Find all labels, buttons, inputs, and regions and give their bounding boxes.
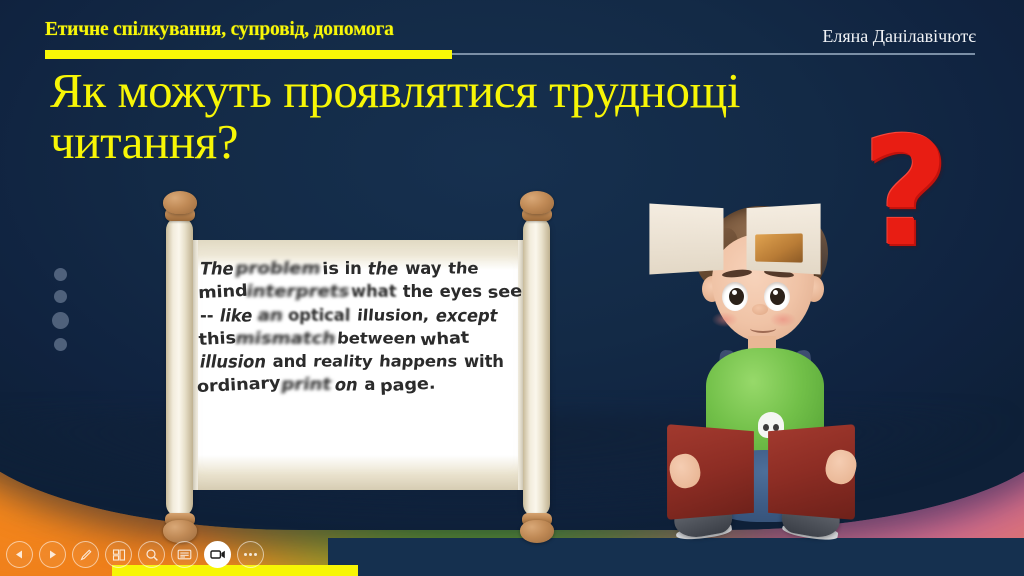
zoom-button[interactable] <box>138 541 165 568</box>
previous-slide-button[interactable] <box>6 541 33 568</box>
presentation-toolbar[interactable] <box>6 541 264 568</box>
triangle-left-icon <box>14 549 25 560</box>
scroll-rod-right <box>523 217 550 517</box>
caption-box-icon <box>177 548 192 561</box>
scroll-text-block: The problem is in the way the mind inter… <box>200 257 530 397</box>
decor-dot <box>54 338 67 351</box>
header-divider-accent <box>45 50 452 59</box>
boy-mouth <box>750 324 776 333</box>
ellipsis-icon <box>243 552 258 557</box>
page-title: Як можуть проявлятися труднощі читання? <box>50 66 770 168</box>
scroll-illustration: The problem is in the way the mind inter… <box>160 205 560 530</box>
boy-cheek-left <box>712 312 738 327</box>
scroll-finial <box>163 520 197 543</box>
pen-icon <box>79 548 93 562</box>
more-options-button[interactable] <box>237 541 264 568</box>
boy-nose <box>752 304 768 315</box>
slide-author: Еляна Данілавічютє <box>822 26 976 47</box>
scroll-finial <box>520 191 554 214</box>
boy-pupil-left <box>729 288 744 305</box>
triangle-right-icon <box>47 549 58 560</box>
layout-grid-icon <box>112 548 126 562</box>
slide-kicker: Етичне спілкування, супровід, допомога <box>45 19 394 41</box>
camera-button[interactable] <box>204 541 231 568</box>
captions-button[interactable] <box>171 541 198 568</box>
boy-pupil-right <box>770 288 785 305</box>
book-page-illustration <box>755 233 803 262</box>
book-page-left <box>649 204 723 275</box>
pen-tool-button[interactable] <box>72 541 99 568</box>
layout-button[interactable] <box>105 541 132 568</box>
decor-dot <box>52 312 69 329</box>
video-camera-icon <box>210 548 226 561</box>
scroll-finial <box>163 191 197 214</box>
boy-reading-illustration <box>640 200 886 550</box>
decor-dot <box>54 290 67 303</box>
presentation-slide: Етичне спілкування, супровід, допомога Е… <box>0 0 1024 576</box>
decorative-dots <box>52 268 69 360</box>
decor-dot <box>54 268 67 281</box>
scroll-finial <box>520 520 554 543</box>
magnifier-icon <box>145 548 159 562</box>
scroll-rod-left <box>166 217 193 517</box>
next-slide-button[interactable] <box>39 541 66 568</box>
